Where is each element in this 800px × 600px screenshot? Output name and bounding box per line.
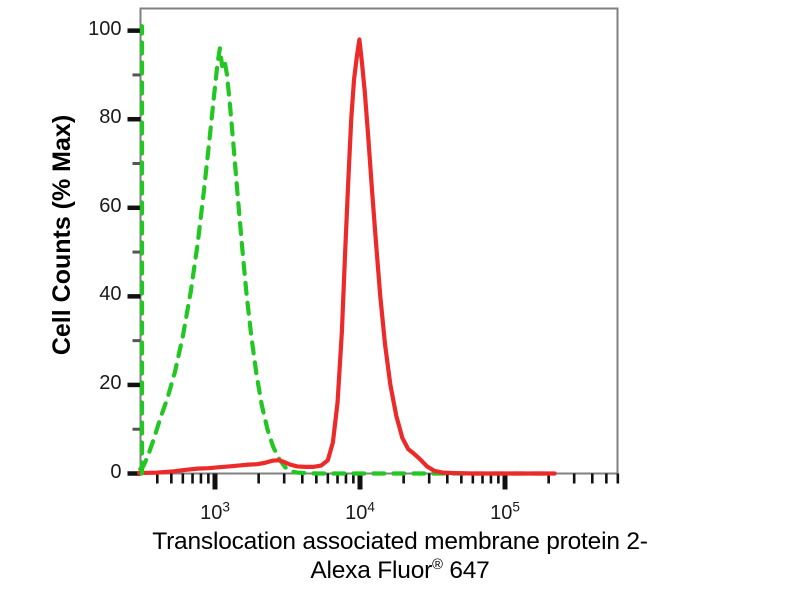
x-axis-tick-label: 104 xyxy=(325,502,395,525)
plot-frame xyxy=(141,9,618,474)
x-tick-base: 10 xyxy=(490,502,512,524)
y-axis-tick-label: 60 xyxy=(76,195,122,218)
y-axis-tick-label: 20 xyxy=(76,372,122,395)
x-tick-exponent: 5 xyxy=(512,499,520,514)
y-axis-tick-label: 0 xyxy=(76,461,122,484)
x-tick-base: 10 xyxy=(200,502,222,524)
caption-fluor-name: Alexa Fluor xyxy=(310,557,432,584)
caption-fluor-number: 647 xyxy=(443,557,490,584)
flow-cytometry-figure: Cell Counts (% Max) Translocation associ… xyxy=(0,0,800,600)
y-axis-tick-label: 40 xyxy=(76,283,122,306)
x-axis-tick-label: 105 xyxy=(470,502,540,525)
y-axis-tick-label: 100 xyxy=(76,18,122,41)
figure-caption: Translocation associated membrane protei… xyxy=(30,528,770,586)
x-tick-exponent: 4 xyxy=(367,499,375,514)
x-tick-exponent: 3 xyxy=(222,499,230,514)
x-axis-tick-label: 103 xyxy=(180,502,250,525)
x-tick-base: 10 xyxy=(345,502,367,524)
caption-line-1: Translocation associated membrane protei… xyxy=(152,528,648,555)
registered-trademark-icon: ® xyxy=(432,557,443,573)
y-axis-tick-label: 80 xyxy=(76,106,122,129)
